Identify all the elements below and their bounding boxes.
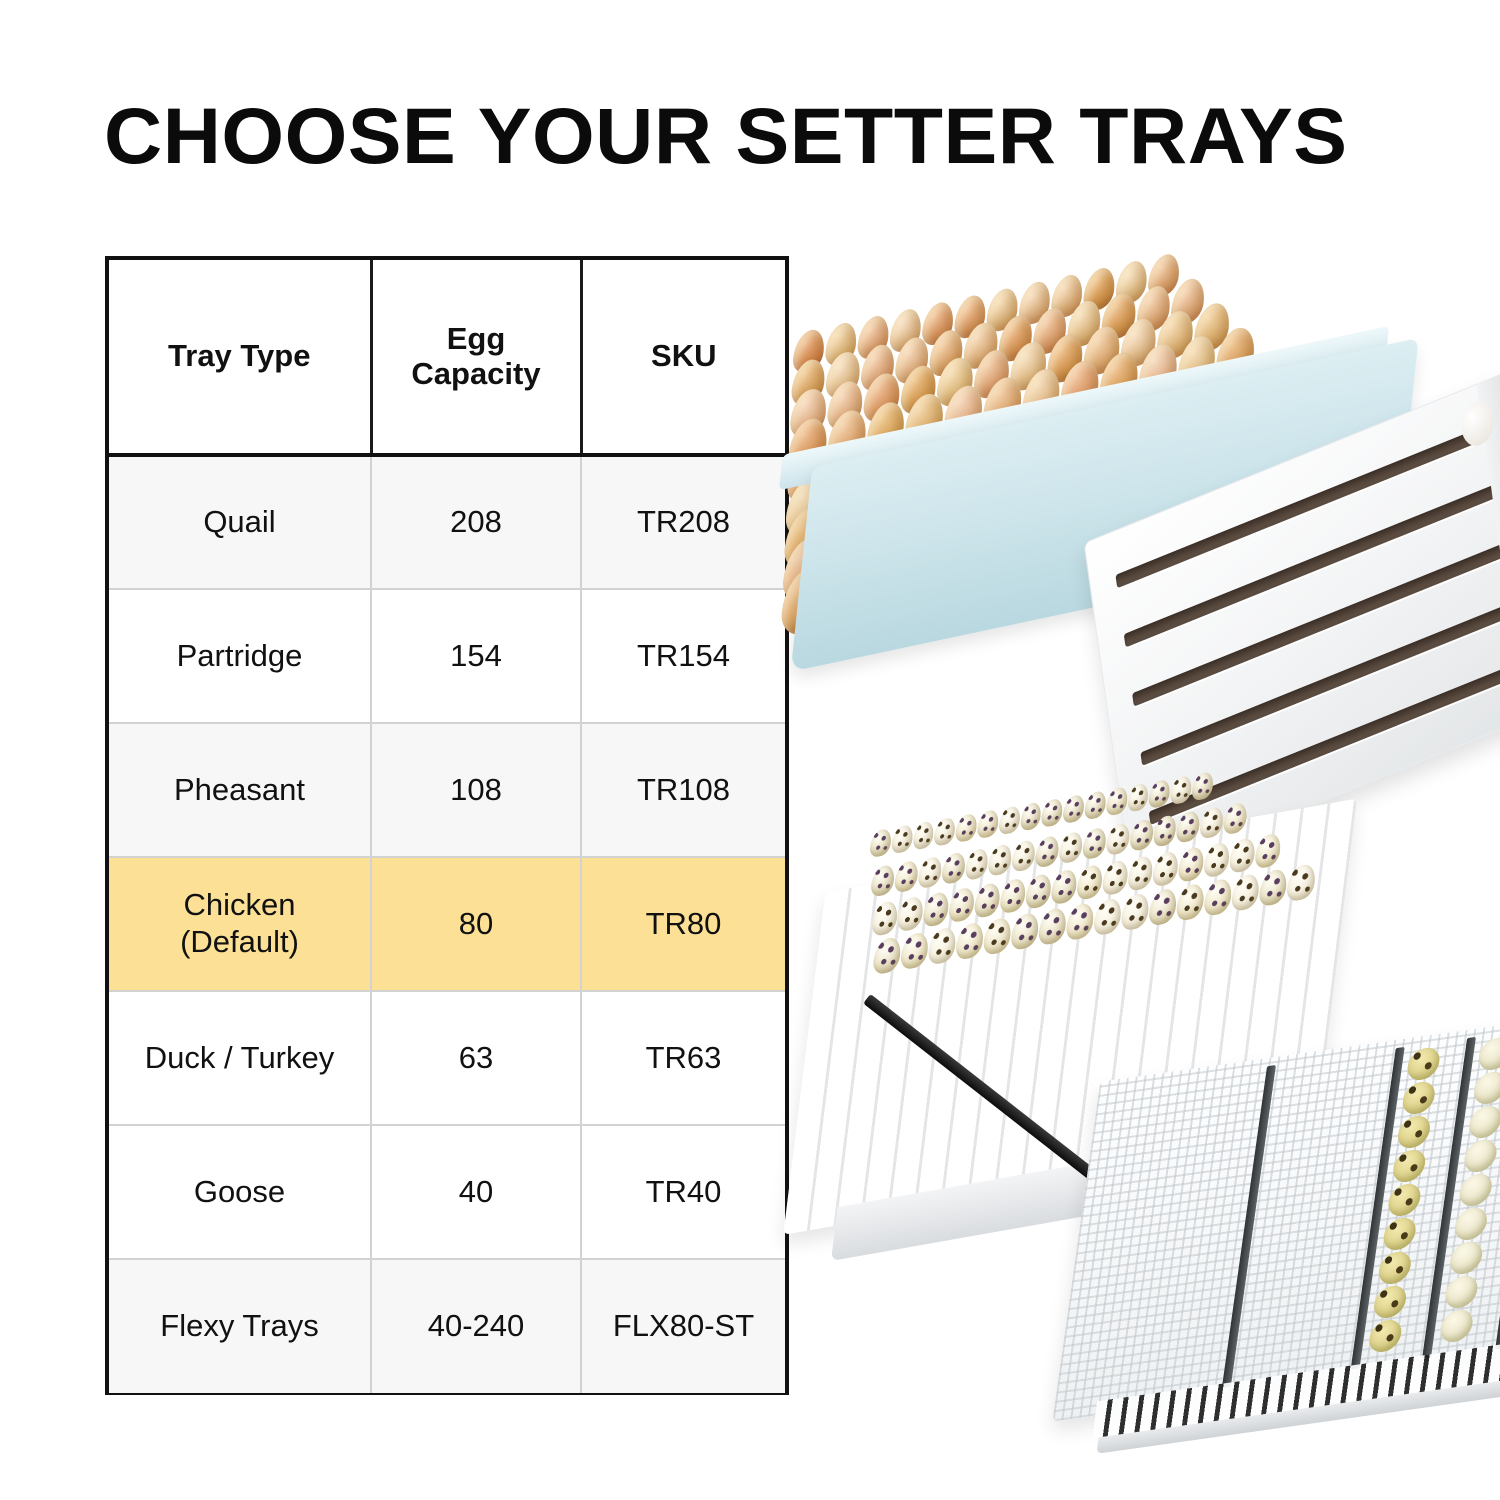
quail-egg xyxy=(1128,818,1154,852)
quail-egg xyxy=(1199,806,1225,840)
quail-egg xyxy=(964,847,990,881)
quail-egg xyxy=(947,886,976,923)
quail-egg xyxy=(1092,897,1123,937)
cell-egg-capacity: 108 xyxy=(371,723,581,857)
quail-egg xyxy=(1175,810,1201,844)
quail-egg xyxy=(987,843,1013,877)
quail-egg xyxy=(954,921,985,961)
quail-egg xyxy=(1177,846,1206,883)
mesh-tray-egg xyxy=(1443,1274,1479,1310)
table-header: Tray Type Egg Capacity SKU xyxy=(109,260,785,455)
column-header-tray-type: Tray Type xyxy=(109,260,371,455)
mesh-tray-egg xyxy=(1372,1284,1408,1320)
cell-sku: TR40 xyxy=(581,1125,785,1259)
mesh-tray-egg xyxy=(1377,1250,1413,1286)
cell-sku: TR80 xyxy=(581,857,785,991)
cell-egg-capacity: 208 xyxy=(371,455,581,589)
mesh-tray-egg xyxy=(1386,1182,1422,1218)
cell-tray-type: Flexy Trays xyxy=(109,1259,371,1393)
cell-egg-capacity: 63 xyxy=(371,991,581,1125)
mesh-tray-egg xyxy=(1367,1318,1403,1354)
quail-egg xyxy=(917,855,943,889)
quail-egg xyxy=(1065,902,1096,942)
cell-tray-type: Goose xyxy=(109,1125,371,1259)
mesh-tray-egg xyxy=(1448,1240,1484,1276)
mesh-tray-egg xyxy=(1467,1104,1500,1140)
quail-egg xyxy=(1152,850,1181,887)
mesh-tray-egg xyxy=(1391,1148,1427,1184)
quail-egg xyxy=(1037,906,1068,946)
cell-egg-capacity: 40 xyxy=(371,1125,581,1259)
mesh-tray-egg xyxy=(1472,1070,1500,1106)
quail-egg xyxy=(1024,873,1053,910)
quail-egg xyxy=(1169,775,1193,806)
cell-egg-capacity: 40-240 xyxy=(371,1259,581,1393)
table-header-row: Tray Type Egg Capacity SKU xyxy=(109,260,785,455)
table-row: Goose 40 TR40 xyxy=(109,1125,785,1259)
quail-egg xyxy=(1019,801,1043,832)
quail-egg xyxy=(955,813,979,844)
quail-egg xyxy=(1203,877,1234,917)
mesh-tray-egg xyxy=(1382,1216,1418,1252)
mesh-tray-egg xyxy=(1439,1308,1475,1344)
quail-egg xyxy=(1286,863,1317,903)
cell-tray-type: Chicken (Default) xyxy=(109,857,371,991)
quail-egg xyxy=(976,809,1000,840)
quail-egg xyxy=(997,805,1021,836)
mesh-tray-egg xyxy=(1453,1206,1489,1242)
mesh-tray-egg xyxy=(1401,1080,1437,1116)
quail-egg xyxy=(922,891,951,928)
mesh-tray-egg xyxy=(1396,1114,1432,1150)
quail-egg xyxy=(927,926,958,966)
quail-egg xyxy=(1222,801,1248,835)
column-header-egg-capacity-line1: Egg xyxy=(379,322,574,357)
quail-egg xyxy=(896,895,925,932)
quail-egg xyxy=(1050,868,1079,905)
mesh-tray-egg xyxy=(1462,1138,1498,1174)
mesh-hatcher-tray-photo xyxy=(1053,1016,1500,1500)
quail-egg xyxy=(1148,779,1172,810)
mesh-tray-egg xyxy=(1405,1046,1441,1082)
quail-egg xyxy=(1075,864,1104,901)
quail-egg xyxy=(982,916,1013,956)
product-photo-collage xyxy=(790,230,1500,1500)
table-row: Partridge 154 TR154 xyxy=(109,589,785,723)
quail-egg xyxy=(1230,872,1261,912)
quail-egg xyxy=(1105,786,1129,817)
quail-egg xyxy=(1120,892,1151,932)
mesh-tray-egg xyxy=(1477,1036,1500,1072)
table-row: Pheasant 108 TR108 xyxy=(109,723,785,857)
quail-egg xyxy=(1058,831,1084,865)
column-header-sku: SKU xyxy=(581,260,785,455)
cell-egg-capacity: 154 xyxy=(371,589,581,723)
quail-egg xyxy=(1191,771,1215,802)
cell-sku: TR208 xyxy=(581,455,785,589)
quail-egg xyxy=(1175,882,1206,922)
cell-tray-type-line1: Chicken xyxy=(115,887,364,924)
setter-tray-table-container: Tray Type Egg Capacity SKU Quail 208 TR2… xyxy=(105,256,789,1395)
quail-egg xyxy=(893,860,919,894)
quail-egg xyxy=(1254,832,1283,869)
quail-egg xyxy=(1148,887,1179,927)
cell-egg-capacity: 80 xyxy=(371,857,581,991)
quail-egg xyxy=(871,900,900,937)
table-body: Quail 208 TR208 Partridge 154 TR154 Phea… xyxy=(109,455,785,1393)
mesh-tray-egg xyxy=(1458,1172,1494,1208)
table-row: Duck / Turkey 63 TR63 xyxy=(109,991,785,1125)
cell-tray-type: Pheasant xyxy=(109,723,371,857)
quail-egg xyxy=(1203,841,1232,878)
quail-egg xyxy=(872,936,903,976)
table-row: Flexy Trays 40-240 FLX80-ST xyxy=(109,1259,785,1393)
setter-tray-table: Tray Type Egg Capacity SKU Quail 208 TR2… xyxy=(109,260,785,1393)
cell-sku: TR108 xyxy=(581,723,785,857)
quail-egg xyxy=(998,877,1027,914)
column-header-egg-capacity-line2: Capacity xyxy=(379,357,574,392)
quail-egg xyxy=(1062,794,1086,825)
quail-egg xyxy=(899,931,930,971)
page-title: CHOOSE YOUR SETTER TRAYS xyxy=(104,96,1461,175)
quail-egg xyxy=(933,816,957,847)
table-row-highlighted: Chicken (Default) 80 TR80 xyxy=(109,857,785,991)
column-header-egg-capacity: Egg Capacity xyxy=(371,260,581,455)
quail-egg xyxy=(890,824,914,855)
quail-egg xyxy=(1083,790,1107,821)
quail-egg xyxy=(973,882,1002,919)
quail-egg xyxy=(1126,782,1150,813)
quail-egg xyxy=(1011,839,1037,873)
quail-egg xyxy=(1101,859,1130,896)
quail-egg xyxy=(870,864,896,898)
table-row: Quail 208 TR208 xyxy=(109,455,785,589)
cell-sku: FLX80-ST xyxy=(581,1259,785,1393)
cell-sku: TR154 xyxy=(581,589,785,723)
quail-egg xyxy=(869,828,893,859)
cell-tray-type: Quail xyxy=(109,455,371,589)
quail-egg xyxy=(1152,814,1178,848)
cell-tray-type: Partridge xyxy=(109,589,371,723)
quail-egg xyxy=(1081,826,1107,860)
quail-egg xyxy=(1228,837,1257,874)
quail-egg xyxy=(1258,867,1289,907)
quail-egg xyxy=(1040,797,1064,828)
quail-egg xyxy=(1105,822,1131,856)
infographic-page: CHOOSE YOUR SETTER TRAYS Tray Type Egg C… xyxy=(0,0,1500,1500)
quail-egg xyxy=(912,820,936,851)
quail-egg xyxy=(1010,911,1041,951)
cell-sku: TR63 xyxy=(581,991,785,1125)
quail-egg xyxy=(1034,835,1060,869)
cell-tray-type: Duck / Turkey xyxy=(109,991,371,1125)
quail-egg xyxy=(1126,855,1155,892)
cell-tray-type-line2: (Default) xyxy=(115,924,364,961)
quail-egg xyxy=(940,851,966,885)
